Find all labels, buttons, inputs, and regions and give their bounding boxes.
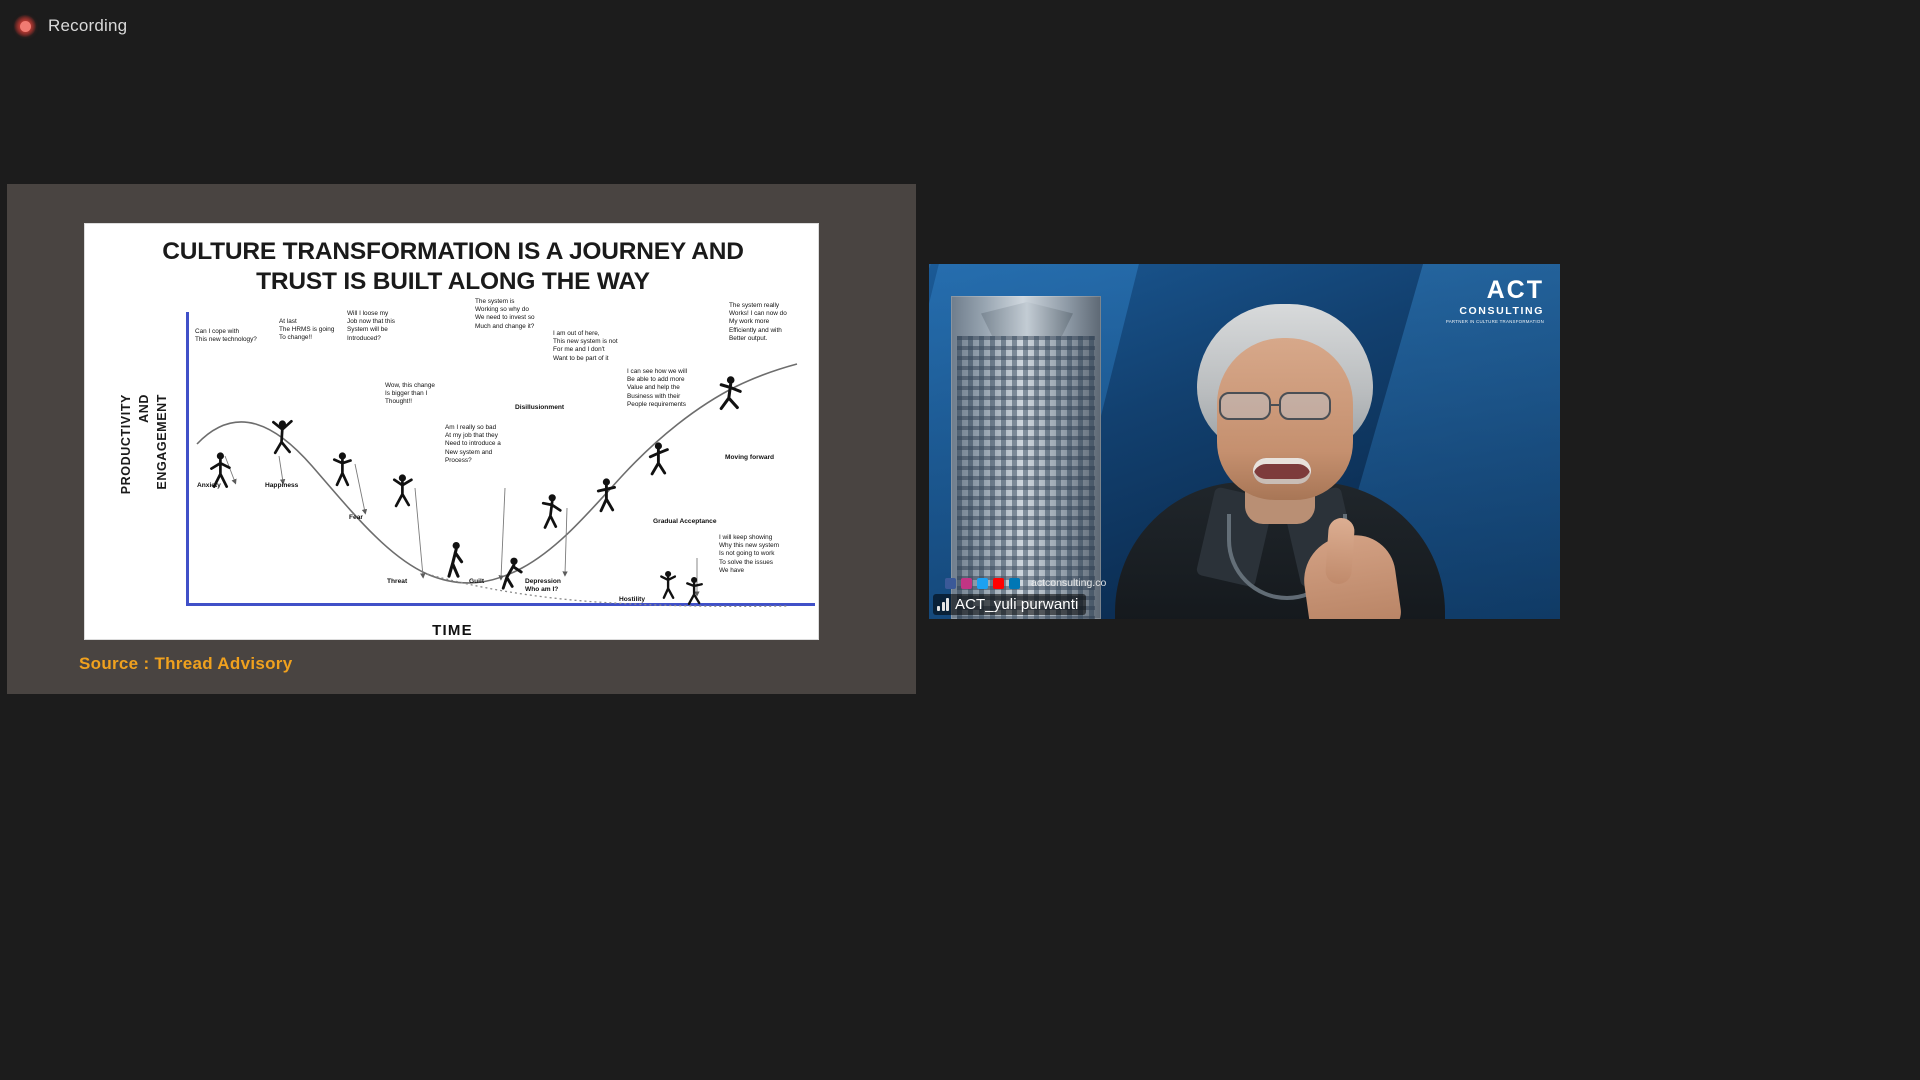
- act-consulting-logo: ACT CONSULTING PARTNER IN CULTURE TRANSF…: [1446, 278, 1544, 324]
- slide-title: CULTURE TRANSFORMATION IS A JOURNEY AND …: [119, 237, 787, 297]
- meeting-screen: Recording CULTURE TRANSFORMATION IS A JO…: [0, 0, 1920, 1080]
- shared-screen-slide[interactable]: CULTURE TRANSFORMATION IS A JOURNEY AND …: [7, 184, 916, 694]
- change-curve-chart: PRODUCTIVITY AND ENGAGEMENT: [97, 306, 807, 636]
- stage-label-hostility: Hostility: [619, 596, 645, 604]
- recording-indicator: Recording: [14, 12, 127, 40]
- website-url: actconsulting.co: [1031, 577, 1106, 589]
- stage-label-disillusionment: Disillusionment: [515, 404, 564, 412]
- annotation-threat: Wow, this change Is bigger than I Though…: [385, 382, 463, 407]
- twitter-icon: [977, 578, 988, 589]
- linkedin-icon: [1009, 578, 1020, 589]
- recording-label: Recording: [48, 16, 127, 36]
- facebook-icon: [945, 578, 956, 589]
- slide-canvas: CULTURE TRANSFORMATION IS A JOURNEY AND …: [84, 223, 819, 640]
- stage-label-anxiety: Anxiety: [197, 482, 221, 490]
- stage-label-depression: Depression Who am I?: [525, 578, 561, 595]
- x-axis-label: TIME: [85, 622, 820, 639]
- stage-label-fear: Fear: [349, 514, 363, 522]
- annotation-denial: The system is Working so why do We need …: [475, 298, 569, 331]
- annotation-acceptance: I can see how we will Be able to add mor…: [627, 368, 725, 409]
- stage-label-happiness: Happiness: [265, 482, 298, 490]
- annotation-hostility: I will keep showing Why this new system …: [719, 534, 811, 575]
- annotation-anxiety: Can I cope with This new technology?: [195, 328, 281, 344]
- logo-line-2: CONSULTING: [1446, 306, 1544, 317]
- participant-name: ACT_yuli purwanti: [955, 596, 1078, 613]
- instagram-icon: [961, 578, 972, 589]
- recording-dot-icon: [14, 15, 36, 37]
- participant-avatar: [1077, 286, 1507, 619]
- annotation-moving-forward: The system really Works! I can now do My…: [729, 302, 825, 343]
- annotation-disillusion: I am out of here, This new system is not…: [553, 330, 653, 363]
- logo-line-1: ACT: [1446, 278, 1544, 303]
- youtube-icon: [993, 578, 1004, 589]
- stage-label-moving-forward: Moving forward: [725, 454, 774, 462]
- journey-curve: [97, 306, 807, 636]
- video-social-bar: actconsulting.co: [945, 577, 1106, 589]
- annotation-guilt: Am I really so bad At my job that they N…: [445, 424, 531, 465]
- stage-label-threat: Threat: [387, 578, 407, 586]
- microphone-level-icon: [937, 598, 949, 611]
- logo-tagline: PARTNER IN CULTURE TRANSFORMATION: [1446, 320, 1544, 324]
- participant-video-tile[interactable]: ACT CONSULTING PARTNER IN CULTURE TRANSF…: [929, 264, 1560, 619]
- participant-name-badge: ACT_yuli purwanti: [933, 594, 1086, 615]
- annotation-fear: Will I loose my Job now that this System…: [347, 310, 427, 343]
- slide-source-text: Source : Thread Advisory: [79, 654, 292, 674]
- stage-label-gradual-acceptance: Gradual Acceptance: [653, 518, 717, 526]
- stage-label-guilt: Guilt: [469, 578, 484, 586]
